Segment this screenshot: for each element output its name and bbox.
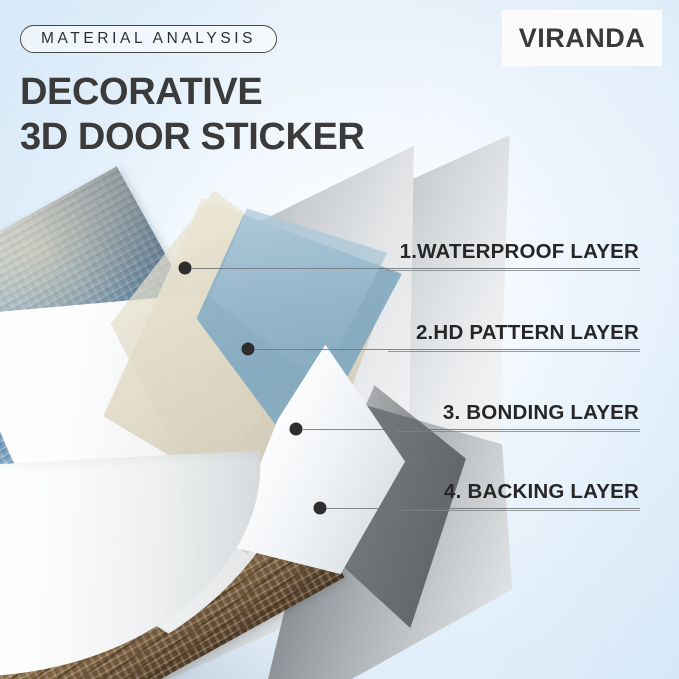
page-title: DECORATIVE 3D DOOR STICKER: [20, 70, 364, 160]
page-title-line-1: DECORATIVE: [20, 71, 262, 113]
callout-underline-waterproof-layer: [386, 270, 640, 271]
brand-name: VIRANDA: [519, 23, 646, 54]
callout-label-waterproof-layer: 1.WATERPROOF LAYER: [400, 240, 639, 264]
leader-line-bonding-layer: [303, 429, 640, 430]
brand-logo: VIRANDA: [503, 11, 661, 65]
callout-dot-hd-pattern-layer: [242, 343, 255, 356]
callout-dot-bonding-layer: [290, 423, 303, 436]
callout-dot-backing-layer: [314, 502, 327, 515]
material-analysis-infographic: MATERIAL ANALYSIS DECORATIVE 3D DOOR STI…: [0, 0, 679, 679]
callout-underline-hd-pattern-layer: [388, 351, 640, 352]
callout-underline-backing-layer: [398, 510, 640, 511]
leader-line-waterproof-layer: [192, 268, 640, 269]
material-analysis-badge: MATERIAL ANALYSIS: [20, 25, 277, 53]
page-title-line-2: 3D DOOR STICKER: [20, 115, 364, 160]
callout-label-hd-pattern-layer: 2.HD PATTERN LAYER: [416, 321, 639, 345]
callout-label-backing-layer: 4. BACKING LAYER: [444, 480, 639, 504]
callout-label-bonding-layer: 3. BONDING LAYER: [443, 401, 639, 425]
badge-label: MATERIAL ANALYSIS: [41, 30, 256, 48]
callout-underline-bonding-layer: [396, 431, 640, 432]
leader-line-hd-pattern-layer: [255, 349, 640, 350]
callout-dot-waterproof-layer: [179, 262, 192, 275]
sticker-layer-artwork: [0, 175, 440, 679]
leader-line-backing-layer: [327, 508, 640, 509]
